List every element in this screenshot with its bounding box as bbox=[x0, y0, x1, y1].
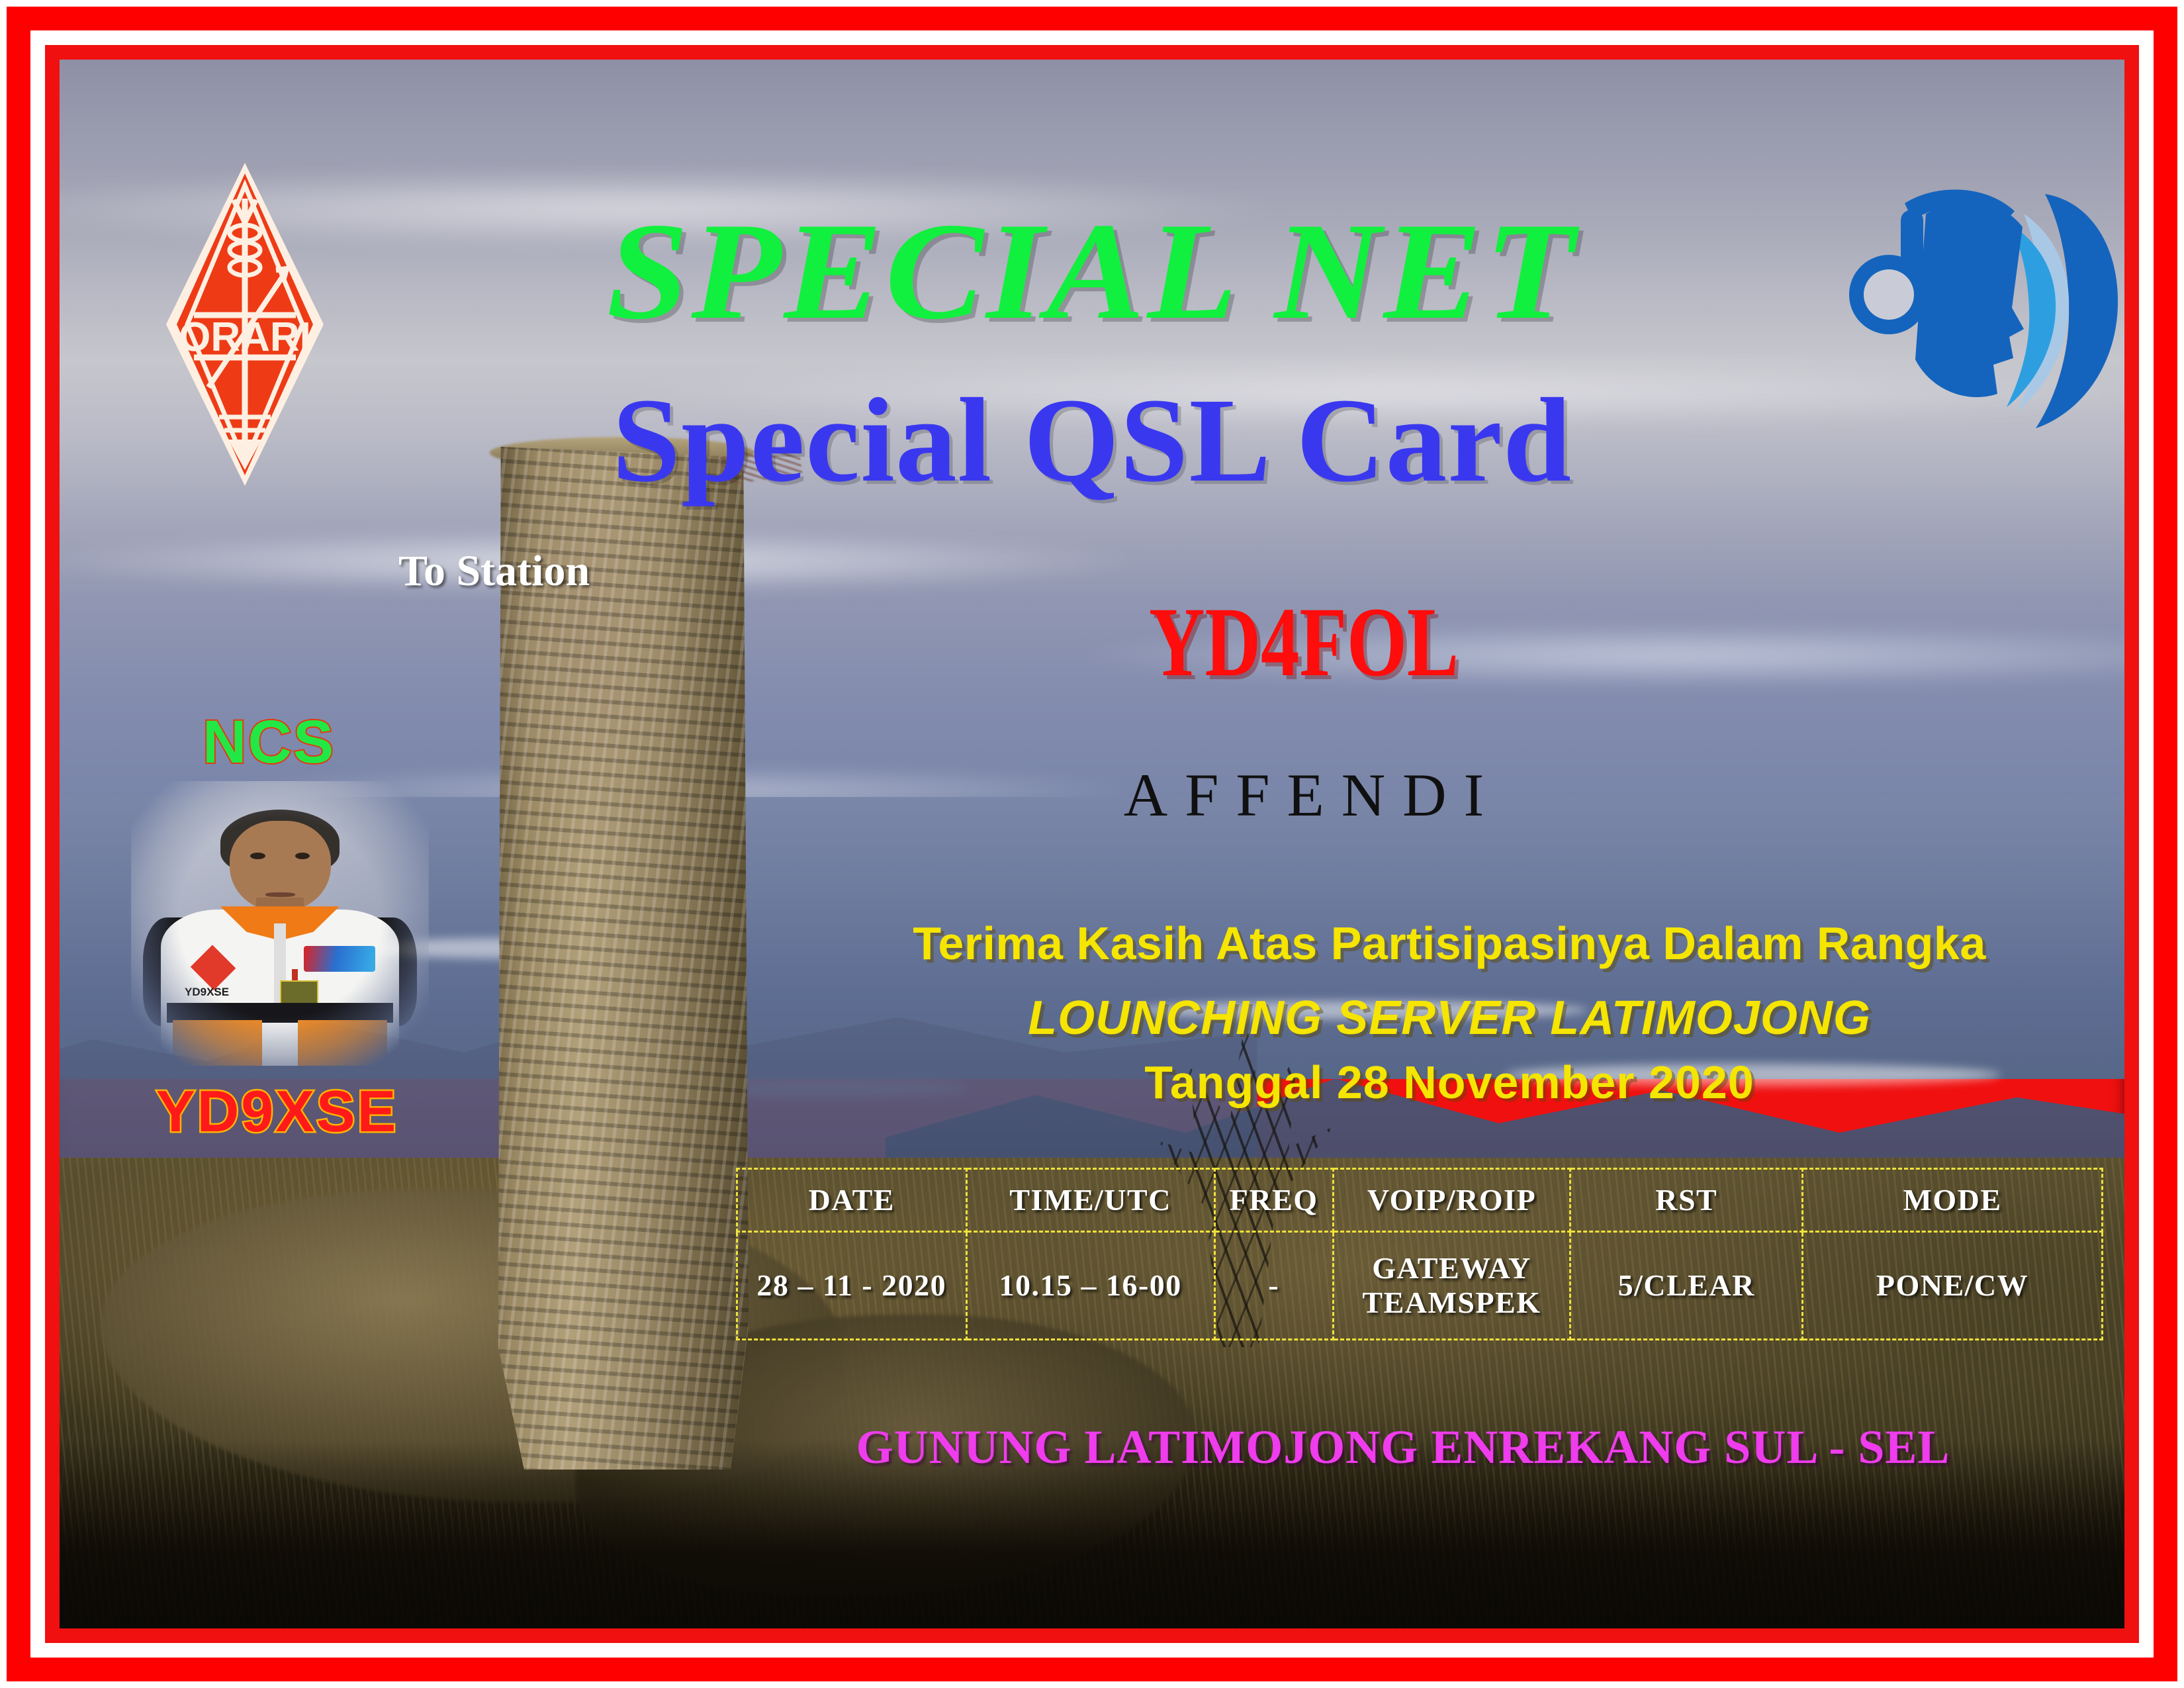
qso-log-table: DATE TIME/UTC FREQ VOIP/ROIP RST MODE 28… bbox=[736, 1168, 2103, 1340]
ncs-operator-photo: YD9XSE bbox=[131, 781, 429, 1066]
page-title: SPECIAL NET bbox=[60, 202, 2124, 341]
event-date: Tanggal 28 November 2020 bbox=[801, 1059, 2098, 1105]
background-photo: ORARI SPECIAL NET Special QSL Card To St bbox=[60, 60, 2124, 1628]
eye-left bbox=[250, 853, 265, 859]
column-header-time: TIME/UTC bbox=[966, 1169, 1214, 1232]
to-station-label: To Station bbox=[398, 549, 590, 593]
event-name: LOUNCHING SERVER LATIMOJONG bbox=[801, 994, 2098, 1042]
column-header-freq: FREQ bbox=[1214, 1169, 1333, 1232]
mouth bbox=[265, 892, 295, 897]
cell-date: 28 – 11 - 2020 bbox=[737, 1232, 967, 1340]
qsl-card: ORARI SPECIAL NET Special QSL Card To St bbox=[0, 0, 2184, 1688]
table-row: 28 – 11 - 2020 10.15 – 16-00 - GATEWAY T… bbox=[737, 1232, 2103, 1340]
cell-voip: GATEWAY TEAMSPEK bbox=[1333, 1232, 1570, 1340]
callsign-block: YD4FOL bbox=[874, 592, 1734, 692]
cell-freq: - bbox=[1214, 1232, 1333, 1340]
shirt-hem-right bbox=[298, 1020, 387, 1066]
page-subtitle: Special QSL Card bbox=[60, 381, 2124, 501]
shirt-org-logo bbox=[304, 946, 375, 972]
shirt-hem-left bbox=[173, 1020, 262, 1066]
thanks-line: Terima Kasih Atas Partisipasinya Dalam R… bbox=[801, 920, 2098, 966]
column-header-date: DATE bbox=[737, 1169, 967, 1232]
cell-rst: 5/CLEAR bbox=[1570, 1232, 1803, 1340]
eye-right bbox=[295, 853, 310, 859]
stone-monument-pillar bbox=[493, 447, 751, 1470]
mountain-caption: GUNUNG LATIMOJONG ENREKANG SUL - SEL bbox=[708, 1423, 2098, 1471]
operator-name: AFFENDI bbox=[874, 765, 1734, 825]
shirt-patch-callsign: YD9XSE bbox=[185, 986, 229, 998]
column-header-mode: MODE bbox=[1803, 1169, 2103, 1232]
table-header-row: DATE TIME/UTC FREQ VOIP/ROIP RST MODE bbox=[737, 1169, 2103, 1232]
column-header-rst: RST bbox=[1570, 1169, 1803, 1232]
cell-time: 10.15 – 16-00 bbox=[966, 1232, 1214, 1340]
station-callsign: YD4FOL bbox=[968, 592, 1639, 692]
column-header-voip: VOIP/ROIP bbox=[1333, 1169, 1570, 1232]
cell-mode: PONE/CW bbox=[1803, 1232, 2103, 1340]
ncs-label: NCS bbox=[203, 712, 335, 773]
ncs-callsign: YD9XSE bbox=[156, 1082, 398, 1141]
